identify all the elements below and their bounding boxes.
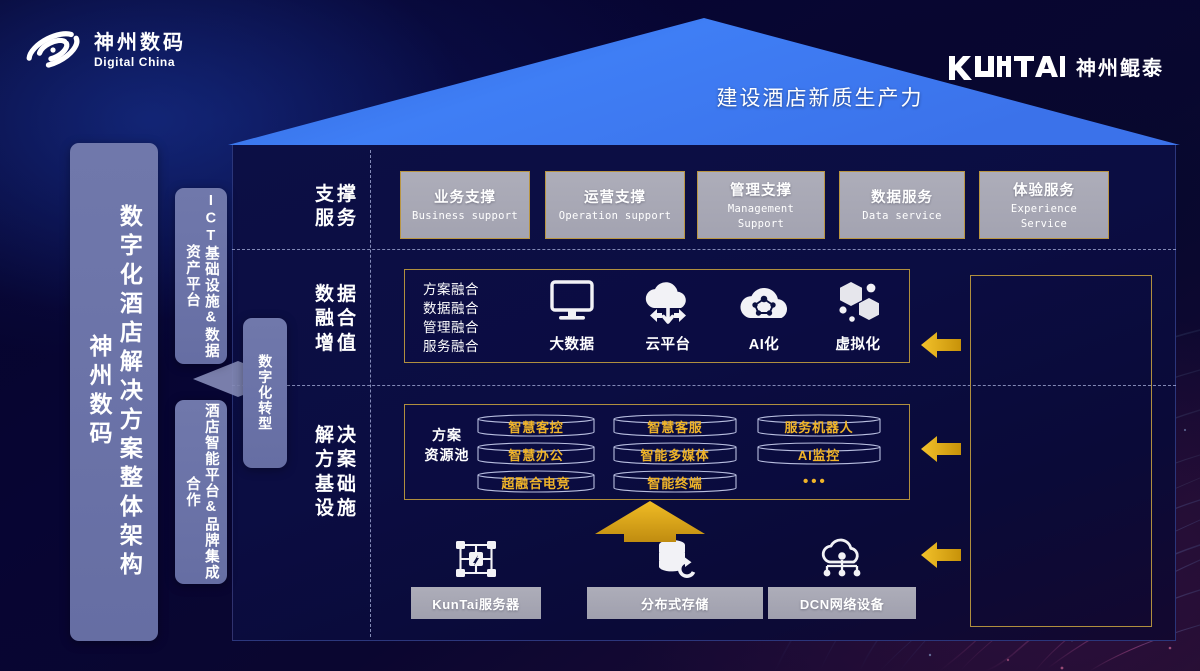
main-title-text: 数字化酒店解决方案整体架构 神州数码 — [84, 204, 145, 581]
left-arrow-icon-2 — [920, 434, 962, 464]
solution-pool-box: 方案 资源池 智慧客控 智慧客服 服务机器人 智慧办公 智能多 — [404, 404, 910, 500]
left-arrow-icon-3 — [920, 540, 962, 570]
kuntai-name-cn: 神州鲲泰 — [1076, 52, 1164, 81]
row-label-data: 数据 融合 增值 — [294, 283, 380, 356]
infra-label: 分布式存储 — [587, 587, 763, 619]
digital-transformation-label: 数字化转型 — [256, 354, 274, 432]
support-box-operation[interactable]: 运营支撑 Operation support — [545, 171, 685, 239]
row-label-support: 支撑 服务 — [294, 183, 380, 232]
infra-icon-wrap — [587, 538, 763, 580]
infra-storage[interactable]: 分布式存储 — [587, 538, 763, 619]
pool-item-label: AI监控 — [798, 445, 840, 464]
infra-icon-wrap — [768, 538, 916, 580]
pool-item-label: 智能多媒体 — [640, 445, 709, 464]
support-box-business[interactable]: 业务支撑 Business support — [400, 171, 530, 239]
pool-item[interactable]: 智慧办公 — [475, 442, 597, 465]
pool-item-label: 智慧客服 — [647, 417, 702, 436]
main-title-panel: 数字化酒店解决方案整体架构 神州数码 — [70, 143, 158, 641]
ict-platform-label: ICT基础设施&数据资产平台 — [182, 188, 220, 364]
support-box-data[interactable]: 数据服务 Data service — [839, 171, 965, 239]
support-label-en: Experience Service — [1011, 202, 1077, 230]
up-arrow-icon — [592, 500, 708, 542]
infra-label: KunTai服务器 — [411, 587, 541, 619]
kuntai-wordmark-icon — [947, 54, 1065, 80]
pool-item-label: 超融合电竞 — [501, 473, 570, 492]
hotel-platform-panel[interactable]: 酒店智能平台&品牌集成合作 — [175, 400, 227, 584]
capability-cloud[interactable]: 云平台 — [625, 278, 711, 354]
pool-item-label: 智能终端 — [647, 473, 702, 492]
right-services-box — [970, 275, 1152, 627]
database-sync-icon — [653, 538, 697, 580]
support-label-cn: 业务支撑 — [434, 186, 496, 207]
capability-label: 大数据 — [529, 333, 615, 354]
capability-label: 云平台 — [625, 333, 711, 354]
support-box-experience[interactable]: 体验服务 Experience Service — [979, 171, 1109, 239]
fusion-item: 管理融合 — [423, 318, 479, 337]
left-arrow-icon-1 — [920, 330, 962, 360]
pool-item[interactable]: AI监控 — [755, 442, 883, 465]
cloud-network-icon — [816, 538, 868, 580]
fusion-list: 方案融合 数据融合 管理融合 服务融合 — [423, 280, 479, 357]
monitor-icon — [546, 278, 598, 326]
support-label-en: Business support — [412, 209, 518, 223]
capability-label: AI化 — [721, 333, 807, 354]
support-label-cn: 数据服务 — [871, 186, 933, 207]
roof-title: 建设酒店新质生产力 — [600, 82, 1040, 112]
row-label-solution: 解决 方案 基础 设施 — [294, 424, 380, 521]
infra-label: DCN网络设备 — [768, 587, 916, 619]
fusion-item: 服务融合 — [423, 337, 479, 356]
pool-more-indicator[interactable]: ••• — [803, 473, 828, 490]
digital-transformation-panel[interactable]: 数字化转型 — [243, 318, 287, 468]
brand-name-cn: 神州数码 — [94, 32, 186, 55]
support-label-cn: 管理支撑 — [730, 179, 792, 200]
pool-item[interactable]: 超融合电竞 — [475, 470, 597, 493]
support-label-en: Management Support — [728, 202, 794, 230]
server-network-icon — [452, 538, 500, 580]
support-label-en: Data service — [862, 209, 941, 223]
pool-item-label: 服务机器人 — [784, 417, 853, 436]
pool-item-label: 智慧客控 — [508, 417, 563, 436]
infra-network[interactable]: DCN网络设备 — [768, 538, 916, 619]
pool-item[interactable]: 智能终端 — [611, 470, 739, 493]
digital-china-logo: 神州数码 Digital China — [22, 26, 186, 74]
pool-item[interactable]: 智慧客控 — [475, 414, 597, 437]
kuntai-logo: 神州鲲泰 — [947, 52, 1164, 81]
cubes-icon — [831, 278, 885, 326]
support-label-cn: 体验服务 — [1013, 179, 1075, 200]
pool-item-label: 智慧办公 — [508, 445, 563, 464]
infra-icon-wrap — [411, 538, 541, 580]
support-label-en: Operation support — [559, 209, 672, 223]
support-box-management[interactable]: 管理支撑 Management Support — [697, 171, 825, 239]
ai-cloud-icon — [735, 278, 793, 326]
fusion-item: 方案融合 — [423, 280, 479, 299]
capability-virtualization[interactable]: 虚拟化 — [815, 278, 901, 354]
brand-name-en: Digital China — [94, 55, 186, 69]
pool-item[interactable]: 智慧客服 — [611, 414, 739, 437]
solution-pool-label: 方案 资源池 — [415, 425, 479, 466]
capability-label: 虚拟化 — [815, 333, 901, 354]
pool-item[interactable]: 智能多媒体 — [611, 442, 739, 465]
data-fusion-box: 方案融合 数据融合 管理融合 服务融合 大数据 云平台 — [404, 269, 910, 363]
hotel-platform-label: 酒店智能平台&品牌集成合作 — [182, 400, 220, 584]
capability-ai[interactable]: AI化 — [721, 278, 807, 354]
pool-item[interactable]: 服务机器人 — [755, 414, 883, 437]
cloud-sync-icon — [640, 278, 696, 326]
infra-server[interactable]: KunTai服务器 — [411, 538, 541, 619]
capability-bigdata[interactable]: 大数据 — [529, 278, 615, 354]
swirl-logo-icon — [22, 26, 84, 74]
support-label-cn: 运营支撑 — [584, 186, 646, 207]
row-divider-1 — [232, 249, 1176, 250]
fusion-item: 数据融合 — [423, 299, 479, 318]
ict-platform-panel[interactable]: ICT基础设施&数据资产平台 — [175, 188, 227, 364]
